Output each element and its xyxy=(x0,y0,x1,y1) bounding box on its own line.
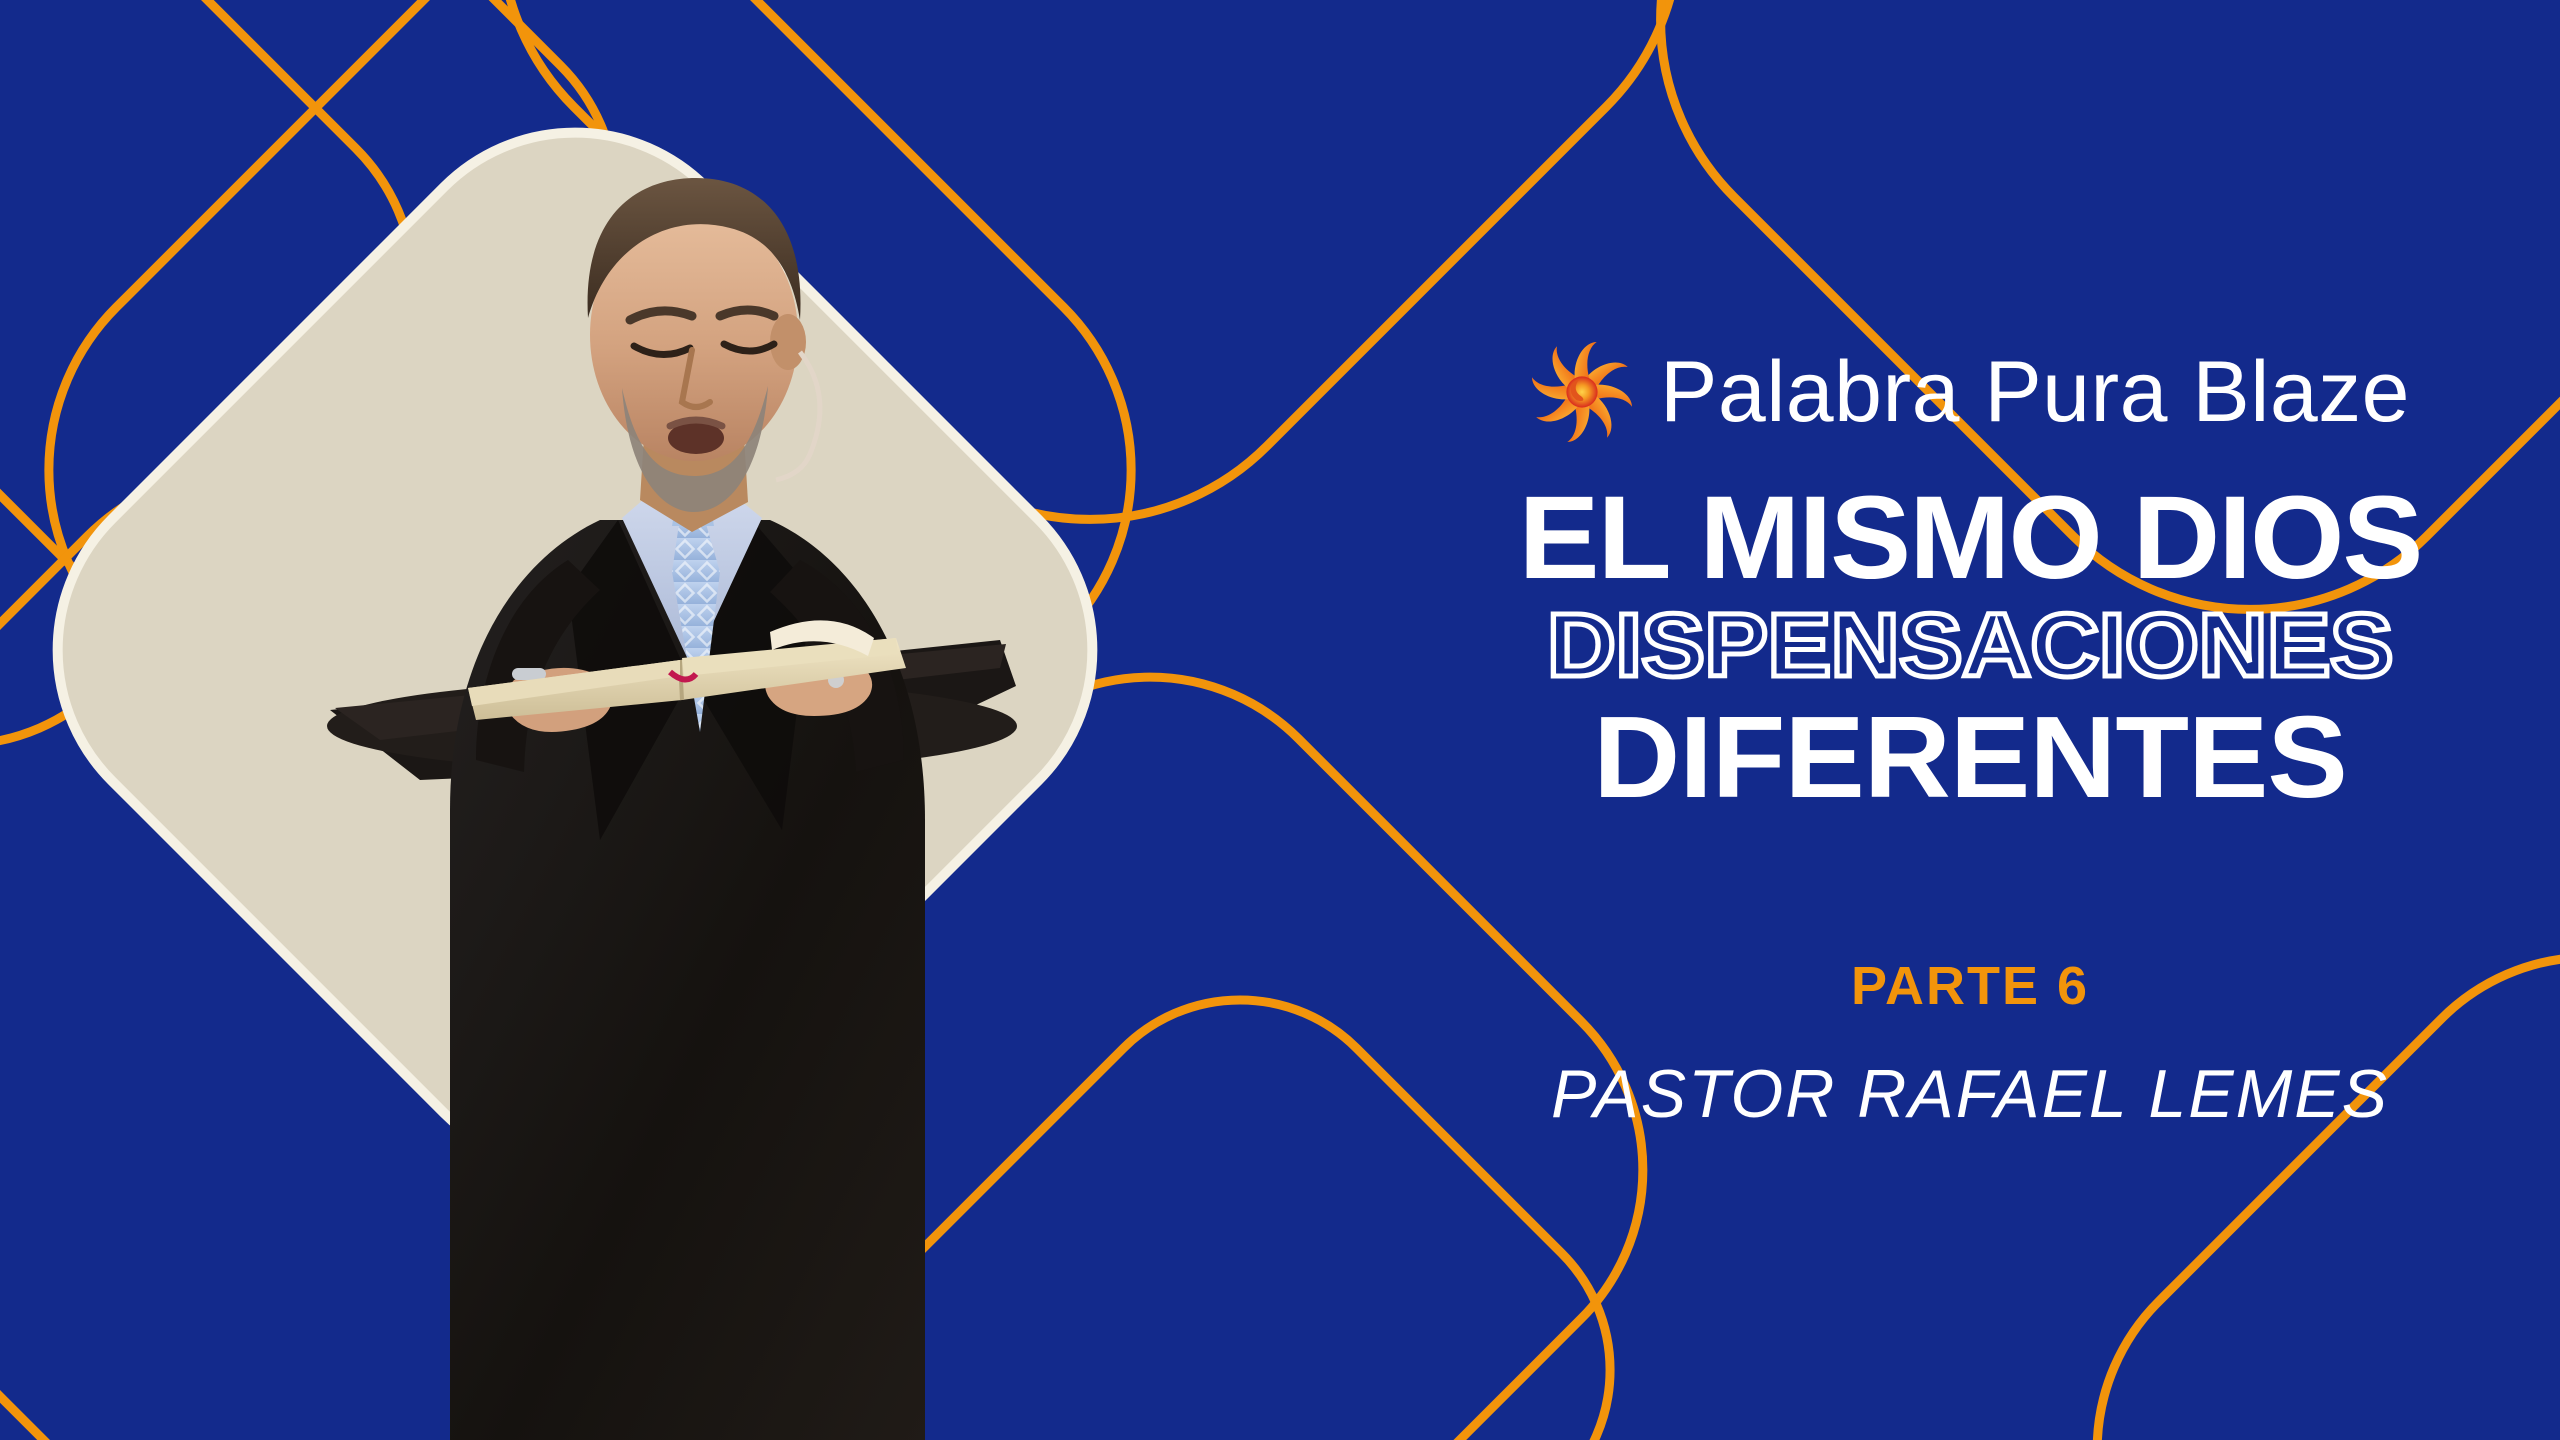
title-panel: Palabra Pura Blaze EL MISMO DIOS DISPENS… xyxy=(1380,0,2560,1440)
part-label: PARTE 6 xyxy=(1380,955,2560,1017)
sermon-title: EL MISMO DIOS DISPENSACIONES DIFERENTES xyxy=(1380,480,2560,815)
sun-flame-swirl-icon xyxy=(1530,340,1634,444)
pastor-photo-area xyxy=(0,0,1320,1440)
title-line-2-outlined: DISPENSACIONES xyxy=(1345,601,2560,693)
brand-name: Palabra Pura Blaze xyxy=(1660,349,2410,435)
thumbnail-canvas: Palabra Pura Blaze EL MISMO DIOS DISPENS… xyxy=(0,0,2560,1440)
title-line-3: DIFERENTES xyxy=(1356,699,2560,815)
pastor-portrait xyxy=(300,120,1060,1440)
title-line-1: EL MISMO DIOS xyxy=(1362,480,2560,597)
brand-lockup: Palabra Pura Blaze xyxy=(1380,322,2560,462)
speaker-name: PASTOR RAFAEL LEMES xyxy=(1380,1055,2560,1133)
wristwatch xyxy=(512,668,546,680)
